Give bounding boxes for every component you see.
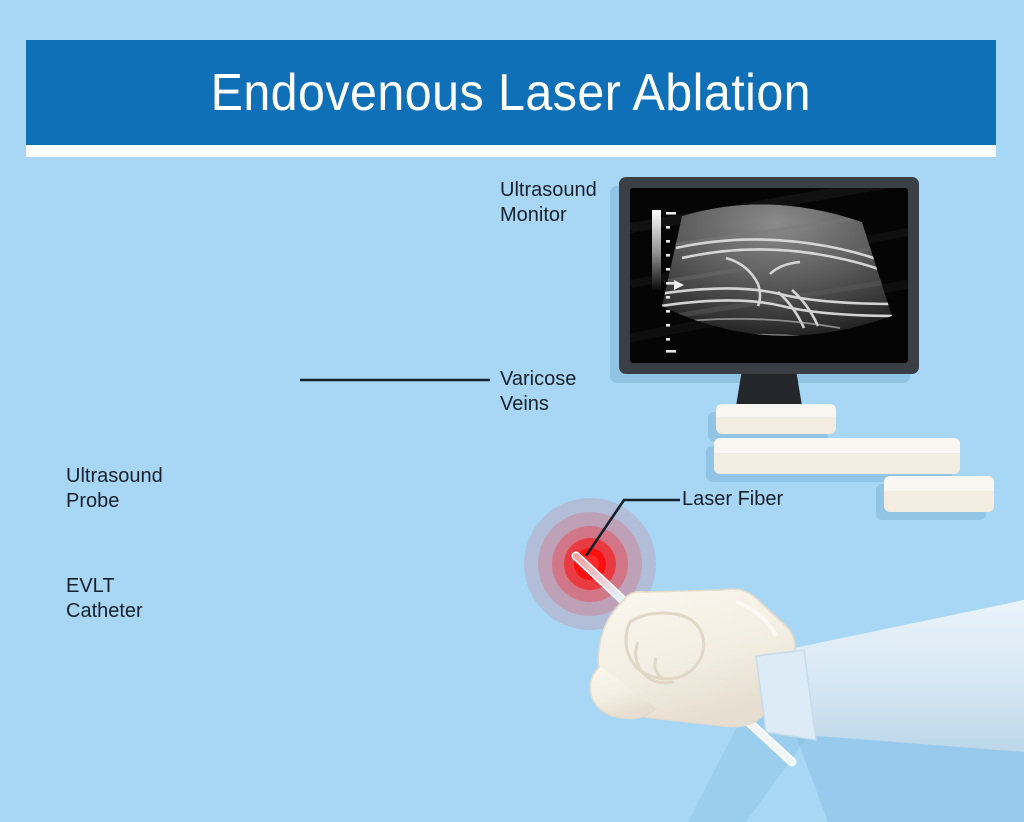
- label-laser-fiber: Laser Fiber: [682, 487, 783, 512]
- equipment-box-bottom: [884, 476, 994, 512]
- leader-varicose-veins: [300, 370, 500, 390]
- grayscale-scale-bar: [652, 210, 661, 290]
- illustration-canvas: Endovenous Laser Ablation: [0, 0, 1024, 822]
- equipment-box-top: [716, 404, 836, 434]
- left-scene-panel: Ultrasound Probe EVLT Catheter: [26, 157, 486, 794]
- title-underline: [26, 145, 996, 157]
- gloved-hand-icon: [560, 540, 1024, 822]
- label-ultrasound-monitor: Ultrasound Monitor: [500, 178, 597, 228]
- monitor-stand-neck: [742, 374, 796, 406]
- ultrasound-image: [630, 188, 908, 363]
- label-varicose-veins: Varicose Veins: [500, 367, 576, 417]
- label-ultrasound-probe: Ultrasound Probe: [66, 464, 163, 514]
- equipment-box-middle: [714, 438, 960, 474]
- ultrasound-monitor: [619, 177, 919, 374]
- leader-laser-fiber: [576, 478, 696, 568]
- title-banner: Endovenous Laser Ablation: [26, 40, 996, 145]
- label-evlt-catheter: EVLT Catheter: [66, 574, 143, 624]
- page-title: Endovenous Laser Ablation: [211, 63, 811, 123]
- monitor-screen: [630, 188, 908, 363]
